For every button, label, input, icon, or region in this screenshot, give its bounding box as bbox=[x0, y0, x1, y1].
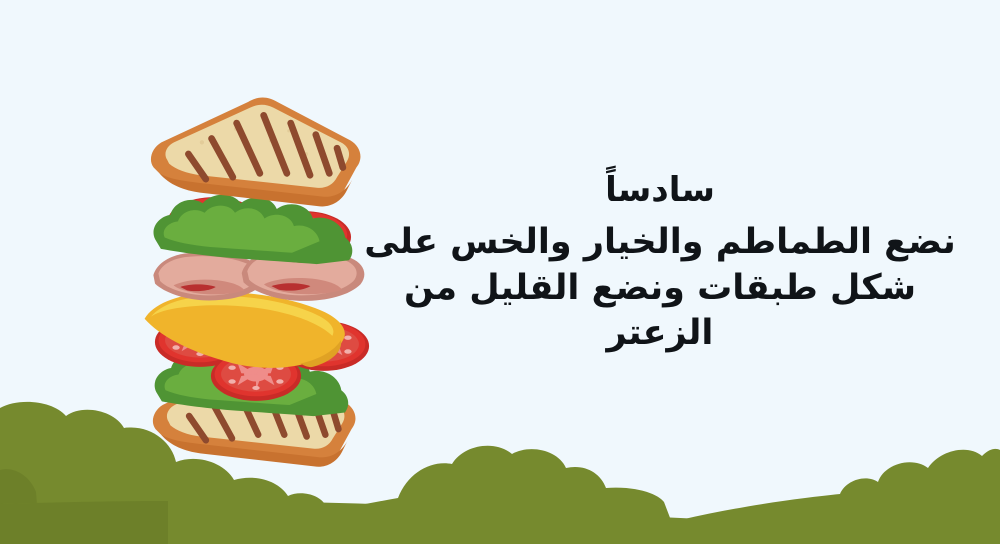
top-bread-slice bbox=[151, 98, 361, 207]
slide-canvas: سادساً نضع الطماطم والخيار والخس على شكل… bbox=[0, 0, 1000, 544]
sandwich-illustration bbox=[128, 88, 388, 468]
step-label: سادساً bbox=[360, 168, 960, 212]
instruction-text-block: سادساً نضع الطماطم والخيار والخس على شكل… bbox=[360, 168, 960, 357]
instruction-line-2: شكل طبقات ونضع القليل من الزعتر bbox=[360, 266, 960, 357]
instruction-line-1: نضع الطماطم والخيار والخس على bbox=[360, 220, 960, 266]
